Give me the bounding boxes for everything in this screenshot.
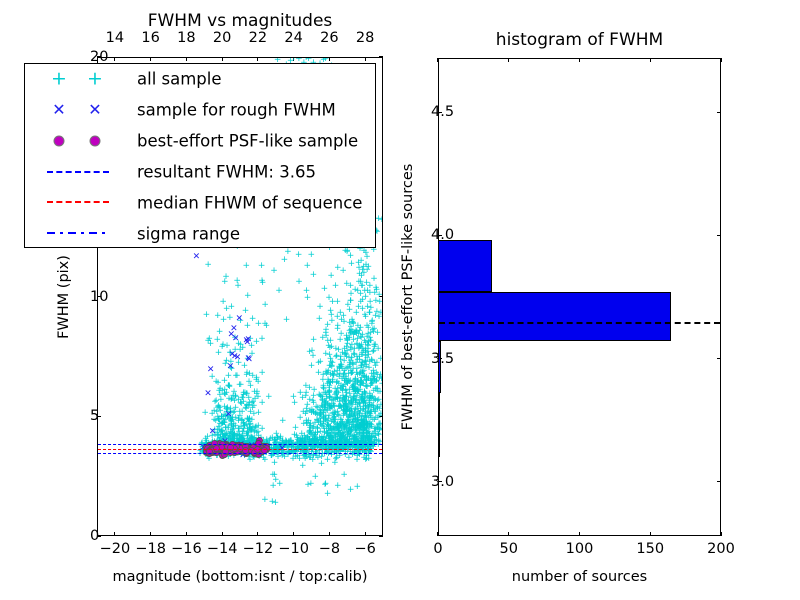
scatter-point-all: + <box>354 483 362 492</box>
legend-label: best-effort PSF-like sample <box>137 132 358 151</box>
x-tick-label-top: 26 <box>320 30 338 46</box>
scatter-point-all: + <box>250 410 258 419</box>
scatter-point-all: + <box>304 294 312 303</box>
scatter-point-all: + <box>337 363 345 372</box>
scatter-point-all: + <box>204 337 212 346</box>
left-plot-title: FWHM vs magnitudes <box>148 11 333 31</box>
scatter-point-all: + <box>344 420 352 429</box>
hist-y-tick-label: 3.0 <box>431 474 454 490</box>
hist-x-tick <box>437 532 438 536</box>
scatter-point-all: + <box>263 322 271 331</box>
scatter-point-all: + <box>212 378 220 387</box>
scatter-point-all: + <box>314 429 322 438</box>
scatter-point-rough: ✕ <box>234 354 242 363</box>
scatter-point-all: + <box>226 314 234 323</box>
scatter-point-all: + <box>310 386 318 395</box>
scatter-point-all: + <box>244 322 252 331</box>
scatter-point-all: + <box>327 307 335 316</box>
scatter-point-all: + <box>242 262 250 271</box>
scatter-point-all: + <box>289 455 297 464</box>
x-tick-label-bottom: −12 <box>243 541 274 557</box>
scatter-point-all: + <box>269 471 277 480</box>
legend-label: sample for rough FWHM <box>137 101 336 120</box>
histogram-bar <box>438 341 441 393</box>
scatter-point-all: + <box>340 471 348 480</box>
legend-label: resultant FWHM: 3.65 <box>137 162 316 181</box>
scatter-point-all: + <box>245 378 253 387</box>
sigma-range-line-low <box>98 453 382 454</box>
scatter-point-all: + <box>270 267 278 276</box>
right-plot-ylabel: FWHM of best-effort PSF-like sources <box>400 164 416 431</box>
scatter-point-all: + <box>304 481 312 490</box>
scatter-point-all: + <box>348 260 356 269</box>
hist-resultant-fwhm-line <box>439 322 720 324</box>
scatter-point-all: + <box>258 277 266 286</box>
hist-x-tick-label: 50 <box>500 541 518 557</box>
scatter-point-all: + <box>203 311 211 320</box>
legend-label: sigma range <box>137 224 240 243</box>
hist-y-tick-right <box>717 358 721 359</box>
scatter-point-all: + <box>363 279 371 288</box>
cross-icon: ✕ <box>52 102 65 118</box>
sigma-range-line-high <box>98 444 382 445</box>
scatter-point-all: + <box>236 408 244 417</box>
legend-row: sigma range <box>25 218 375 249</box>
scatter-point-all: + <box>356 270 364 279</box>
hist-x-tick <box>508 532 509 536</box>
median-fwhm-line <box>98 449 382 450</box>
scatter-point-all: + <box>374 430 382 439</box>
scatter-point-all: + <box>258 262 266 271</box>
hist-x-tick-label: 0 <box>433 541 442 557</box>
scatter-point-all: + <box>342 402 350 411</box>
scatter-point-all: + <box>304 262 312 271</box>
scatter-point-rough: ✕ <box>227 331 235 340</box>
scatter-point-all: + <box>340 383 348 392</box>
scatter-point-all: + <box>290 393 298 402</box>
hist-x-tick-label: 200 <box>707 541 735 557</box>
legend-row: ✕✕sample for rough FWHM <box>25 95 375 126</box>
hist-y-tick-right <box>717 112 721 113</box>
legend-marker-sample: ++ <box>25 64 133 94</box>
scatter-point-all: + <box>357 379 365 388</box>
scatter-point-all: + <box>357 333 365 342</box>
histogram-bar <box>438 240 492 292</box>
right-plot-xlabel: number of sources <box>512 569 648 585</box>
legend-label: all sample <box>137 70 222 89</box>
scatter-point-all: + <box>374 329 382 338</box>
x-tick-label-bottom: −20 <box>100 541 131 557</box>
scatter-point-all: + <box>295 278 303 287</box>
scatter-point-all: + <box>322 399 330 408</box>
legend-label: median FHWM of sequence <box>137 193 362 212</box>
line-sample-icon <box>47 232 109 234</box>
scatter-point-all: + <box>311 473 319 482</box>
scatter-point-all: + <box>244 292 252 301</box>
scatter-point-all: + <box>261 496 269 505</box>
scatter-point-rough: ✕ <box>209 428 217 437</box>
scatter-point-all: + <box>324 490 332 499</box>
scatter-point-all: + <box>216 328 224 337</box>
scatter-point-all: + <box>233 277 241 286</box>
legend-marker-sample <box>25 157 133 187</box>
circle-icon <box>54 135 65 146</box>
scatter-point-all: + <box>316 315 324 324</box>
scatter-point-all: + <box>343 280 351 289</box>
scatter-point-all: + <box>369 376 377 385</box>
x-tick-label-bottom: −14 <box>207 541 238 557</box>
hist-y-tick-label: 4.5 <box>431 104 454 120</box>
scatter-point-all: + <box>334 325 342 334</box>
hist-x-tick-top <box>437 58 438 62</box>
hist-x-tick <box>650 532 651 536</box>
scatter-point-all: + <box>346 361 354 370</box>
scatter-point-rough: ✕ <box>204 390 212 399</box>
line-sample-icon <box>47 171 109 173</box>
scatter-point-all: + <box>302 417 310 426</box>
scatter-point-all: + <box>364 435 372 444</box>
scatter-point-all: + <box>275 287 283 296</box>
legend-marker-sample <box>25 126 133 156</box>
scatter-point-all: + <box>228 303 236 312</box>
scatter-point-all: + <box>235 425 243 434</box>
scatter-point-all: + <box>295 251 303 260</box>
x-tick-label-top: 18 <box>177 30 195 46</box>
scatter-point-rough: ✕ <box>245 356 253 365</box>
legend-marker-sample: ✕✕ <box>25 95 133 125</box>
scatter-point-all: + <box>321 429 329 438</box>
left-plot-xlabel: magnitude (bottom:isnt / top:calib) <box>112 569 367 585</box>
scatter-point-all: + <box>329 426 337 435</box>
scatter-point-all: + <box>363 455 371 464</box>
scatter-point-all: + <box>351 412 359 421</box>
scatter-point-all: + <box>336 309 344 318</box>
scatter-point-all: + <box>339 267 347 276</box>
hist-y-tick-label: 3.5 <box>431 351 454 367</box>
scatter-point-all: + <box>241 389 249 398</box>
scatter-point-all: + <box>281 256 289 265</box>
hist-x-tick-top <box>720 58 721 62</box>
scatter-point-all: + <box>310 271 318 280</box>
scatter-point-all: + <box>374 345 382 354</box>
scatter-point-rough: ✕ <box>193 253 201 262</box>
scatter-point-rough: ✕ <box>225 411 233 420</box>
figure-canvas: FWHM vs magnitudesmagnitude (bottom:isnt… <box>0 0 800 600</box>
scatter-point-all: + <box>366 298 374 307</box>
scatter-point-all: + <box>283 316 291 325</box>
scatter-point-all: + <box>317 358 325 367</box>
hist-x-tick <box>579 532 580 536</box>
scatter-point-all: + <box>334 482 342 491</box>
scatter-point-all: + <box>204 261 212 270</box>
scatter-point-all: + <box>327 272 335 281</box>
right-plot-title: histogram of FWHM <box>496 30 663 50</box>
scatter-point-all: + <box>215 402 223 411</box>
scatter-point-all: + <box>221 377 229 386</box>
scatter-point-all: + <box>254 422 262 431</box>
scatter-point-all: + <box>258 335 266 344</box>
scatter-point-all: + <box>299 462 307 471</box>
scatter-point-all: + <box>366 401 374 410</box>
scatter-point-all: + <box>308 251 316 260</box>
scatter-point-all: + <box>357 257 365 266</box>
scatter-point-all: + <box>271 459 279 468</box>
scatter-point-all: + <box>216 391 224 400</box>
hist-x-tick <box>720 532 721 536</box>
scatter-point-all: + <box>310 409 318 418</box>
legend-row: resultant FWHM: 3.65 <box>25 157 375 188</box>
x-tick-label-top: 14 <box>106 30 124 46</box>
scatter-point-all: + <box>261 301 269 310</box>
scatter-point-rough: ✕ <box>207 366 215 375</box>
hist-x-tick-top <box>579 58 580 62</box>
scatter-point-all: + <box>361 347 369 356</box>
scatter-point-all: + <box>303 405 311 414</box>
plus-icon: + <box>51 70 67 89</box>
scatter-point-all: + <box>318 460 326 469</box>
scatter-point-all: + <box>335 346 343 355</box>
scatter-point-all: + <box>332 282 340 291</box>
scatter-point-all: + <box>347 297 355 306</box>
scatter-point-all: + <box>331 459 339 468</box>
hist-y-tick-right <box>717 481 721 482</box>
scatter-point-all: + <box>347 326 355 335</box>
left-plot-ylabel: FWHM (pix) <box>56 255 72 339</box>
scatter-point-all: + <box>320 385 328 394</box>
scatter-point-all: + <box>299 394 307 403</box>
scatter-point-all: + <box>253 388 261 397</box>
hist-x-tick-label: 150 <box>636 541 664 557</box>
legend-row: best-effort PSF-like sample <box>25 126 375 157</box>
x-tick-label-bottom: −6 <box>354 541 375 557</box>
x-tick-label-bottom: −16 <box>171 541 202 557</box>
histogram-bar <box>438 393 440 457</box>
hist-x-tick-top <box>650 58 651 62</box>
scatter-point-all: + <box>321 285 329 294</box>
scatter-point-all: + <box>364 421 372 430</box>
line-sample-icon <box>47 201 109 203</box>
x-tick-label-bottom: −10 <box>278 541 309 557</box>
scatter-point-all: + <box>272 499 280 508</box>
plus-icon: + <box>87 70 103 89</box>
cross-icon: ✕ <box>88 102 101 118</box>
hist-x-tick-top <box>508 58 509 62</box>
scatter-point-all: + <box>284 248 292 257</box>
scatter-point-all: + <box>366 309 374 318</box>
scatter-point-all: + <box>316 303 324 312</box>
x-tick-label-top: 16 <box>141 30 159 46</box>
scatter-point-all: + <box>201 409 209 418</box>
scatter-point-all: + <box>279 417 287 426</box>
legend-row: ++all sample <box>25 64 375 95</box>
scatter-point-all: + <box>375 313 382 322</box>
scatter-point-all: + <box>306 348 314 357</box>
x-tick-label-top: 24 <box>284 30 302 46</box>
legend-row: median FHWM of sequence <box>25 187 375 218</box>
hist-y-tick-right <box>717 235 721 236</box>
scatter-point-all: + <box>365 263 373 272</box>
scatter-point-all: + <box>229 392 237 401</box>
scatter-point-all: + <box>265 393 273 402</box>
scatter-point-all: + <box>364 287 372 296</box>
scatter-point-all: + <box>258 369 266 378</box>
legend-marker-sample <box>25 187 133 217</box>
x-tick-label-bottom: −8 <box>319 541 340 557</box>
scatter-point-rough: ✕ <box>244 339 252 348</box>
scatter-point-all: + <box>322 416 330 425</box>
scatter-point-all: + <box>357 298 365 307</box>
x-tick-label-top: 22 <box>249 30 267 46</box>
scatter-point-all: + <box>308 362 316 371</box>
scatter-point-all: + <box>219 298 227 307</box>
x-tick-label-top: 28 <box>356 30 374 46</box>
scatter-point-all: + <box>376 388 382 397</box>
x-tick-label-top: 20 <box>213 30 231 46</box>
x-tick-label-bottom: −18 <box>135 541 166 557</box>
scatter-point-all: + <box>322 329 330 338</box>
plot-legend: ++all sample✕✕sample for rough FWHMbest-… <box>24 63 376 248</box>
circle-icon <box>90 135 101 146</box>
scatter-point-all: + <box>310 336 318 345</box>
scatter-point-all: + <box>373 286 381 295</box>
scatter-point-all: + <box>222 273 230 282</box>
scatter-point-all: + <box>376 298 382 307</box>
scatter-point-all: + <box>357 362 365 371</box>
scatter-point-all: + <box>334 298 342 307</box>
scatter-point-rough: ✕ <box>227 363 235 372</box>
scatter-point-all: + <box>321 481 329 490</box>
scatter-point-all: + <box>348 341 356 350</box>
legend-marker-sample <box>25 218 133 248</box>
y-tick-right <box>379 535 383 536</box>
hist-x-tick-label: 100 <box>566 541 594 557</box>
histogram-bar <box>438 292 671 341</box>
